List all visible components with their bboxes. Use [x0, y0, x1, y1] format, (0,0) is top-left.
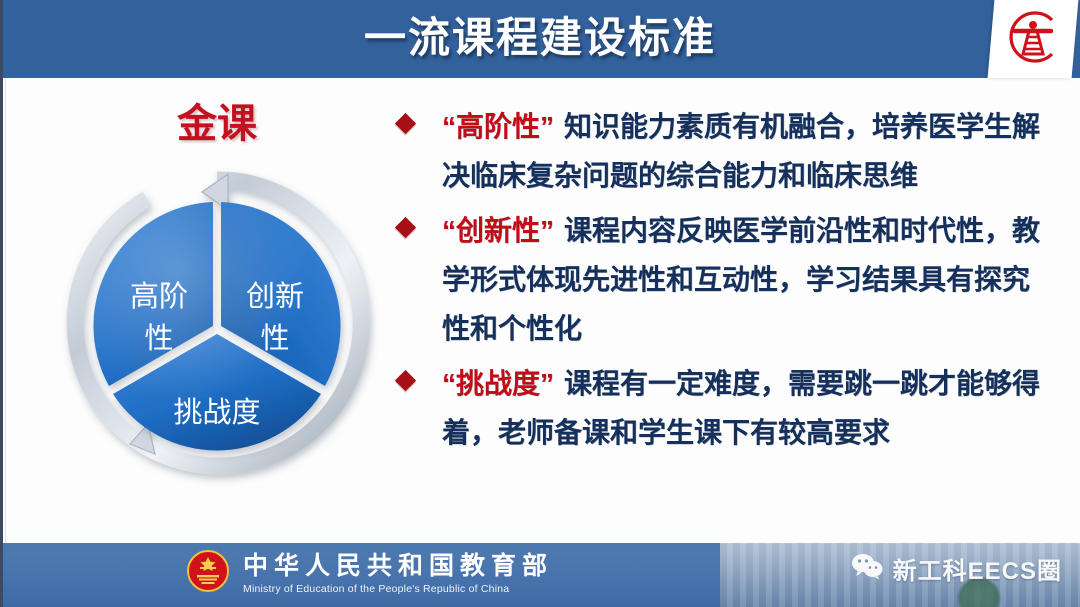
- bullet-list: “高阶性”知识能力素质有机融合，培养医学生解决临床复杂问题的综合能力和临床思维 …: [396, 102, 1056, 463]
- wechat-icon: [850, 552, 884, 585]
- logo-container: [988, 0, 1079, 78]
- red-diamond-icon: [395, 113, 416, 134]
- three-segment-pie: 高阶 性 创新 性 挑战度: [52, 158, 382, 488]
- header-bar: 一流课程建设标准: [0, 0, 1080, 78]
- wheel-title: 金课: [52, 96, 382, 152]
- slide: 一流课程建设标准: [0, 0, 1080, 607]
- china-national-emblem: [185, 548, 231, 599]
- svg-text:性: 性: [260, 322, 289, 355]
- gold-course-wheel: 金课: [52, 96, 382, 496]
- bullet-keyword-0: “高阶性”: [442, 111, 564, 142]
- red-diamond-icon: [395, 217, 416, 238]
- ministry-of-education-block: 中华人民共和国教育部 Ministry of Education of the …: [185, 548, 553, 599]
- bullet-keyword-1: “创新性”: [442, 215, 564, 246]
- left-edge-hairline: [5, 78, 6, 543]
- watermark-text: 新工科EECS圈: [893, 551, 1062, 586]
- bullet-item-2: “挑战度”课程有一定难度，需要跳一跳才能够得着，老师备课和学生课下有较高要求: [396, 359, 1056, 457]
- ministry-name-en: Ministry of Education of the People's Re…: [243, 582, 553, 596]
- page-title: 一流课程建设标准: [0, 8, 1080, 68]
- bullet-keyword-2: “挑战度”: [442, 368, 564, 399]
- ministry-name-cn: 中华人民共和国教育部: [243, 552, 553, 582]
- footer-bar: 中华人民共和国教育部 Ministry of Education of the …: [0, 543, 1080, 607]
- slide-body: 金课: [0, 78, 1080, 543]
- svg-text:性: 性: [144, 322, 173, 355]
- watermark: 新工科EECS圈: [850, 551, 1062, 586]
- bullet-item-1: “创新性”课程内容反映医学前沿性和时代性，教学形式体现先进性和互动性，学习结果具…: [396, 206, 1056, 353]
- red-diamond-icon: [395, 370, 416, 391]
- segment-label-0: 高阶: [130, 280, 188, 313]
- bullet-item-0: “高阶性”知识能力素质有机融合，培养医学生解决临床复杂问题的综合能力和临床思维: [396, 102, 1056, 200]
- segment-label-2: 挑战度: [173, 396, 260, 429]
- university-tower-logo: [1002, 6, 1064, 73]
- segment-label-1: 创新: [246, 280, 304, 313]
- left-edge-rule: [0, 0, 3, 607]
